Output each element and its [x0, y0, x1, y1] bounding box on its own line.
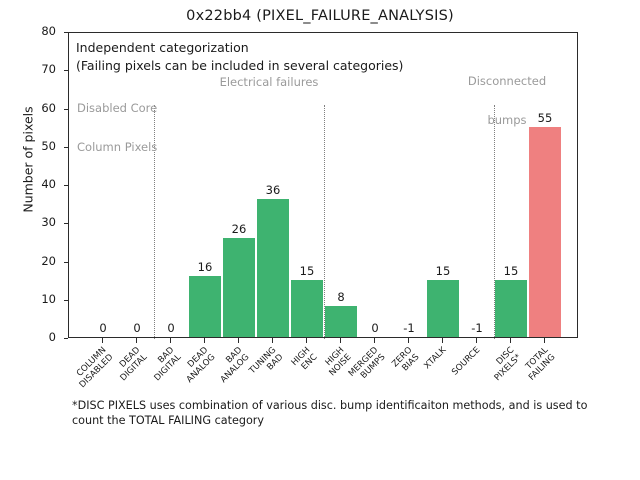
- bar-value-label: 8: [324, 290, 358, 304]
- x-tick-mark: [544, 338, 545, 343]
- x-tick-mark: [102, 338, 103, 343]
- bar-value-label: 15: [290, 264, 324, 278]
- bar-value-label: -1: [392, 321, 426, 335]
- x-tick-mark: [374, 338, 375, 343]
- bar-value-label: 15: [494, 264, 528, 278]
- y-tick-label: 30: [16, 215, 56, 229]
- y-tick-label: 40: [16, 177, 56, 191]
- bar: [223, 238, 256, 337]
- y-tick-mark: [64, 338, 68, 339]
- bar: [529, 127, 562, 337]
- x-tick-mark: [170, 338, 171, 343]
- footnote: *DISC PIXELS uses combination of various…: [72, 398, 592, 428]
- bar-value-label: 0: [86, 321, 120, 335]
- bar: [257, 199, 290, 337]
- y-tick-label: 50: [16, 139, 56, 153]
- plot-area: 0001626361580-115-11555 Disabled Core Co…: [68, 32, 578, 338]
- x-tick-mark: [238, 338, 239, 343]
- section-divider: [324, 105, 325, 339]
- annotation-several-categories: (Failing pixels can be included in sever…: [76, 58, 403, 73]
- y-tick-label: 0: [16, 330, 56, 344]
- x-tick-mark: [408, 338, 409, 343]
- annotation-independent-categorization: Independent categorization: [76, 40, 249, 55]
- bar-value-label: -1: [460, 321, 494, 335]
- bar-value-label: 26: [222, 222, 256, 236]
- figure: 0x22bb4 (PIXEL_FAILURE_ANALYSIS) Number …: [0, 0, 640, 480]
- bar-value-label: 0: [154, 321, 188, 335]
- y-tick-label: 60: [16, 101, 56, 115]
- x-tick-mark: [340, 338, 341, 343]
- section-label-disconnected: Disconnected bumps: [447, 49, 567, 153]
- y-tick-label: 10: [16, 292, 56, 306]
- x-tick-mark: [442, 338, 443, 343]
- x-tick-mark: [272, 338, 273, 343]
- bar-value-label: 15: [426, 264, 460, 278]
- x-tick-mark: [510, 338, 511, 343]
- x-tick-mark: [476, 338, 477, 343]
- x-tick-mark: [136, 338, 137, 343]
- y-tick-label: 20: [16, 254, 56, 268]
- bar: [325, 306, 358, 337]
- bar: [427, 280, 460, 337]
- x-tick-mark: [306, 338, 307, 343]
- bar-value-label: 0: [120, 321, 154, 335]
- y-axis-label: Number of pixels: [21, 50, 36, 270]
- section-label-electrical: Electrical failures: [199, 76, 339, 89]
- y-tick-label: 80: [16, 24, 56, 38]
- bar: [495, 280, 528, 337]
- x-tick-mark: [204, 338, 205, 343]
- bar: [291, 280, 324, 337]
- section-label-disabled-core: Disabled Core Column Pixels: [77, 76, 157, 180]
- bar-value-label: 0: [358, 321, 392, 335]
- y-tick-label: 70: [16, 62, 56, 76]
- bar-value-label: 16: [188, 260, 222, 274]
- chart-title: 0x22bb4 (PIXEL_FAILURE_ANALYSIS): [0, 8, 640, 24]
- bar-value-label: 36: [256, 183, 290, 197]
- bar: [189, 276, 222, 337]
